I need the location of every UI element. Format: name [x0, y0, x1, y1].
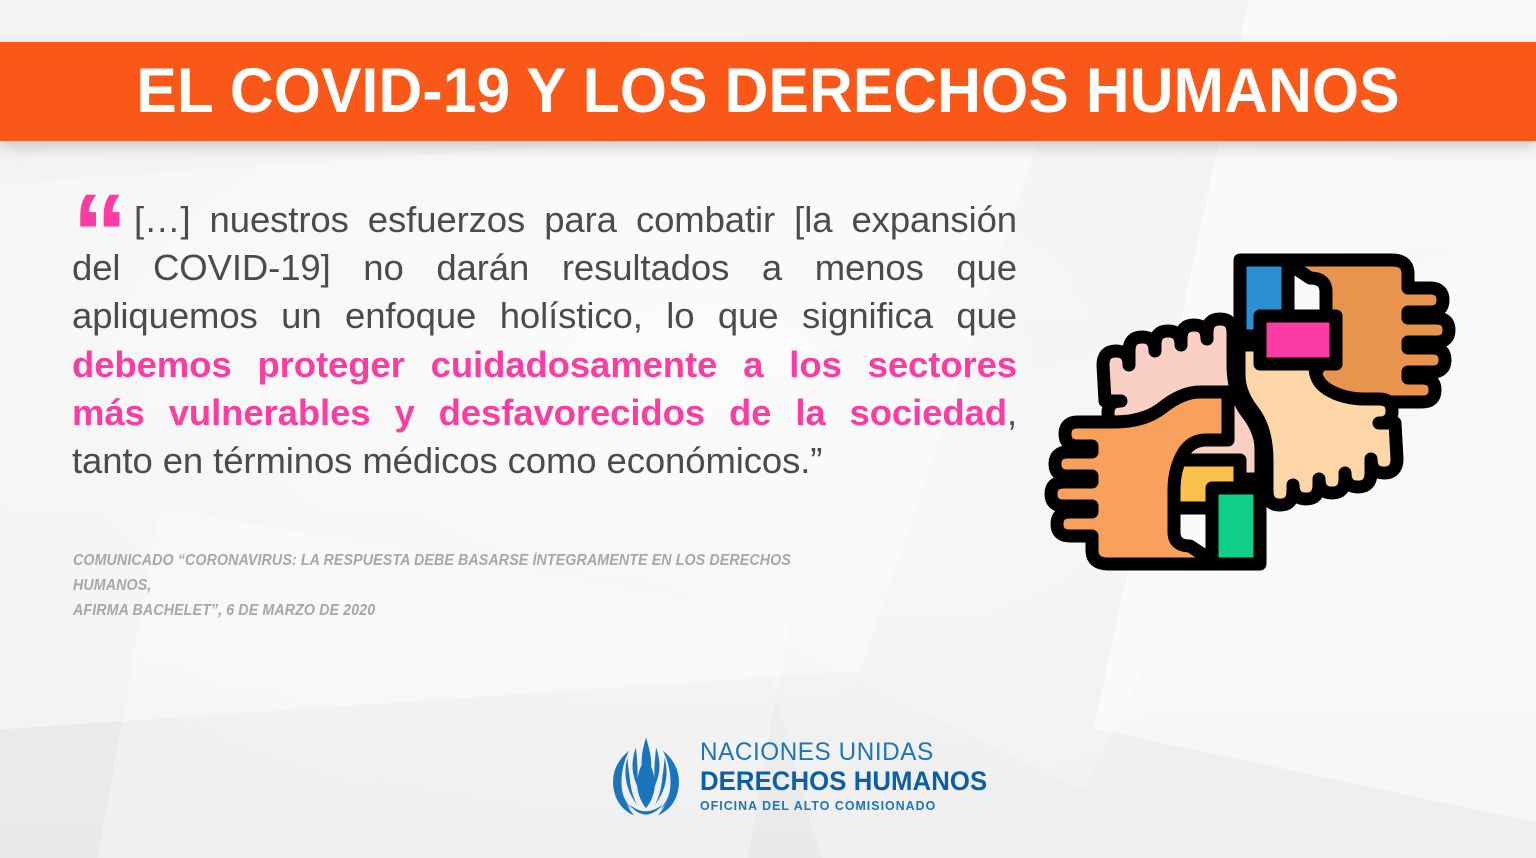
quote-highlight: debemos proteger cuidadosamente a los se… [72, 344, 1017, 433]
wristband-green [1212, 488, 1260, 564]
attribution-line-2: AFIRMA BACHELET”, 6 DE MARZO DE 2020 [73, 598, 846, 623]
logo-line-naciones-unidas: NACIONES UNIDAS [700, 740, 987, 765]
title-banner: EL COVID-19 Y LOS DERECHOS HUMANOS [0, 42, 1536, 141]
ohchr-flame-laurel-emblem [604, 732, 688, 820]
attribution-line-1: COMUNICADO “CORONAVIRUS: LA RESPUESTA DE… [73, 548, 846, 598]
quote-part-one: […] nuestros esfuerzos para combatir [la… [72, 199, 1017, 336]
logo-line-oficina: OFICINA DEL ALTO COMISIONADO [700, 799, 981, 812]
page-title: EL COVID-19 Y LOS DERECHOS HUMANOS [136, 60, 1399, 123]
wristband-pink [1260, 316, 1336, 364]
opening-quote-mark: “ [72, 194, 124, 275]
logo-line-derechos-humanos: DERECHOS HUMANOS [700, 768, 987, 795]
quote-text: […] nuestros esfuerzos para combatir [la… [72, 196, 1017, 485]
logo-wordmark: NACIONES UNIDAS DERECHOS HUMANOS OFICINA… [700, 740, 996, 813]
ohchr-logo: NACIONES UNIDAS DERECHOS HUMANOS OFICINA… [604, 732, 996, 820]
four-hands-illustration [1040, 212, 1460, 612]
quote-block: “ […] nuestros esfuerzos para combatir [… [72, 196, 1017, 485]
attribution: COMUNICADO “CORONAVIRUS: LA RESPUESTA DE… [73, 548, 846, 623]
